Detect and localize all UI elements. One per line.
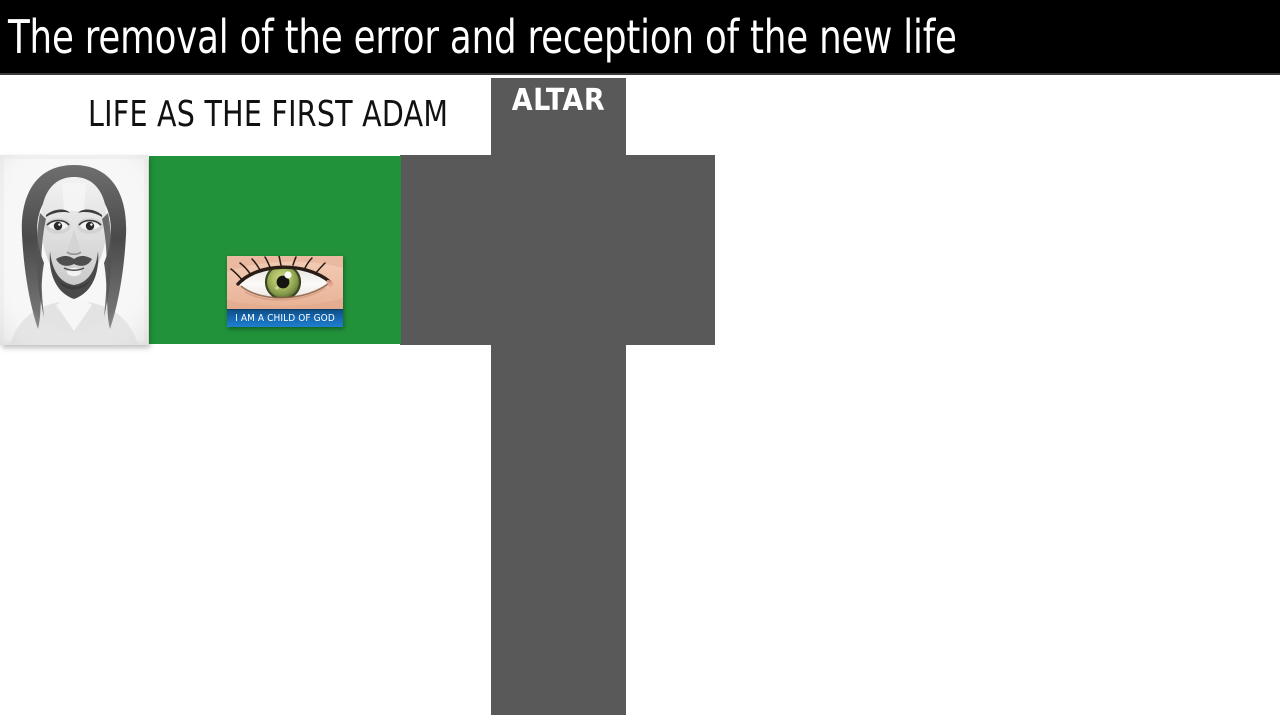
child-of-god-image-card: I AM A CHILD OF GOD [227, 256, 343, 327]
child-of-god-caption-text: I AM A CHILD OF GOD [227, 310, 343, 327]
eye-photo [227, 256, 343, 309]
altar-label: ALTAR [491, 83, 626, 118]
section-heading: LIFE AS THE FIRST ADAM [88, 94, 448, 135]
human-eye-icon [227, 256, 343, 309]
cross-vertical-beam [491, 78, 626, 715]
child-of-god-caption-bar: I AM A CHILD OF GOD [227, 309, 343, 327]
slide-title-bar: The removal of the error and reception o… [0, 0, 1280, 75]
jesus-watercolor-icon [0, 155, 148, 345]
slide-title: The removal of the error and reception o… [8, 10, 957, 64]
cross-horizontal-beam [400, 155, 715, 345]
jesus-portrait-image [0, 155, 148, 345]
